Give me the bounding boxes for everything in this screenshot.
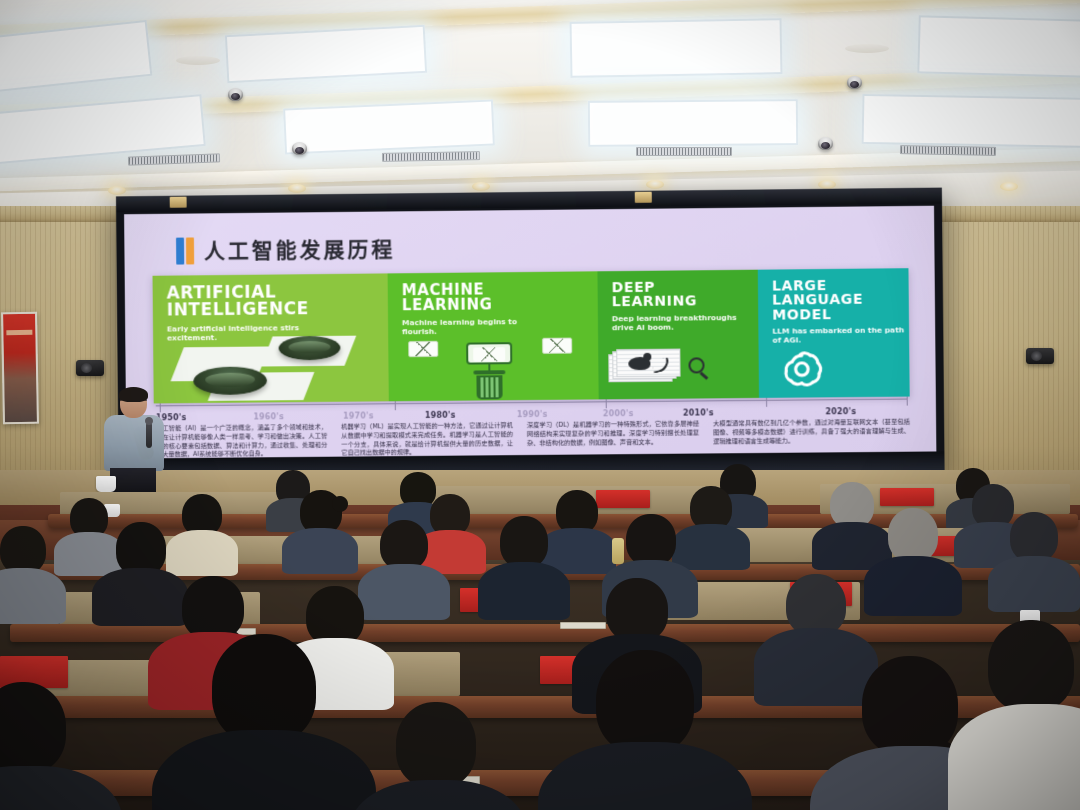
wall-poster [1, 312, 39, 425]
envelope-icon [542, 338, 572, 354]
torso [672, 524, 750, 570]
recessed-downlight [818, 180, 836, 189]
torso [0, 568, 66, 624]
drink-bottle [612, 538, 624, 564]
envelope-icon [408, 341, 438, 357]
led-display-screen[interactable]: 人工智能发展历程 ARTIFICIAL INTELLIGENCE Early a… [116, 188, 945, 478]
panel-deep-learning[interactable]: DEEP LEARNING Deep learning breakthrough… [597, 270, 759, 400]
torso [864, 556, 962, 616]
air-vent [128, 153, 220, 165]
ceiling-panel-light [570, 18, 783, 78]
timeline-year-1990s: 1990's [517, 410, 548, 419]
accent-bar-orange [186, 237, 194, 264]
torso [92, 568, 188, 626]
torso [538, 742, 752, 810]
panel-heading-line2: LEARNING [612, 294, 758, 310]
openai-logo-icon [779, 345, 826, 392]
timeline-tick [907, 397, 908, 406]
envelope-filter-box [466, 342, 512, 364]
smoke-detector [176, 56, 220, 65]
air-vent [382, 151, 480, 162]
presenter-torso [104, 415, 164, 471]
head [380, 520, 428, 570]
timeline-panel-strip: ARTIFICIAL INTELLIGENCE Early artificial… [153, 268, 910, 403]
torso [478, 562, 570, 620]
timeline-tick [766, 398, 767, 407]
ceiling-panel-light [862, 94, 1080, 148]
title-accent-bars [176, 237, 194, 264]
accent-bar-blue [176, 237, 184, 264]
panel-heading: LARGE LANGUAGE MODEL [772, 278, 909, 322]
panel-subtitle: LLM has embarked on the path of AGI. [772, 325, 909, 345]
timeline-year-2010s: 2010's [683, 408, 714, 417]
head [1010, 512, 1058, 562]
timeline-tick [395, 401, 396, 410]
recessed-downlight [288, 184, 306, 193]
head [500, 516, 548, 568]
panel-heading-line2: LEARNING [402, 297, 598, 314]
mouse-silhouette-icon [628, 357, 650, 370]
email-spam-filter-icon [404, 335, 584, 399]
timeline-year-1960s: 1960's [253, 412, 284, 421]
panel-large-language-model[interactable]: LARGE LANGUAGE MODEL LLM has embarked on… [758, 268, 910, 398]
screen-mount-bracket [635, 192, 652, 203]
wall-speaker-right [1026, 348, 1054, 364]
head [888, 508, 938, 562]
dome-camera-icon [228, 88, 243, 101]
description-column-ml: 机器学习（ML）是实现人工智能的一种方法，它通过让计算机从数据中学习和提取模式来… [341, 422, 513, 458]
microphone-icon [146, 422, 152, 448]
ceiling-panel-light [283, 99, 495, 154]
smoke-detector [845, 44, 889, 53]
audience-area [0, 470, 1080, 810]
panel-subtitle: Deep learning breakthroughs drive AI boo… [612, 312, 759, 332]
presentation-slide: 人工智能发展历程 ARTIFICIAL INTELLIGENCE Early a… [124, 206, 936, 459]
ceiling [0, 0, 1080, 196]
lecture-hall-scene: 人工智能发展历程 ARTIFICIAL INTELLIGENCE Early a… [0, 0, 1080, 810]
timeline-year-1980s: 1980's [425, 411, 456, 420]
panel-heading: DEEP LEARNING [612, 280, 759, 310]
head [212, 634, 316, 744]
panel-subtitle: Machine learning begins to flourish. [402, 316, 552, 336]
trash-lid [473, 370, 505, 374]
torso [988, 556, 1080, 612]
envelope-icon [473, 347, 505, 361]
presenter-hair [119, 387, 148, 402]
robot-vacuum-icon [171, 331, 376, 401]
recessed-downlight [1000, 182, 1018, 191]
hair-bun [332, 496, 348, 512]
recessed-downlight [108, 186, 126, 195]
torso [152, 730, 376, 810]
torso [948, 704, 1080, 810]
dome-camera-icon [847, 76, 862, 89]
screen-mount-bracket [170, 197, 187, 208]
slide-header: 人工智能发展历程 [176, 233, 395, 265]
head [786, 574, 846, 636]
panel-machine-learning[interactable]: MACHINE LEARNING Machine learning begins… [388, 271, 599, 401]
description-column-llm: 大模型通常具有数亿到几亿个参数，通过对海量互联网文本（甚至包括图像、视频等多模态… [713, 419, 910, 447]
torso [754, 628, 878, 706]
ceiling-panel-light [588, 99, 798, 147]
magnifier-icon [688, 357, 704, 373]
torso [166, 530, 238, 576]
torso [282, 528, 358, 574]
wall-speaker-left [76, 360, 104, 376]
head [396, 702, 476, 788]
screen-content-area: 人工智能发展历程 ARTIFICIAL INTELLIGENCE Early a… [124, 206, 936, 459]
head [606, 578, 668, 642]
dome-camera-icon [818, 137, 833, 150]
page-title: 人工智能发展历程 [204, 233, 396, 265]
bench-nameplate [560, 622, 606, 629]
trash-bin-icon [476, 375, 502, 399]
recessed-downlight [646, 180, 664, 189]
dome-camera-icon [292, 142, 307, 155]
recessed-downlight [472, 182, 490, 191]
ceiling-panel-light [917, 15, 1080, 78]
timeline-year-2000s: 2000's [603, 409, 634, 418]
panel-heading: MACHINE LEARNING [402, 281, 598, 314]
panel-heading: ARTIFICIAL INTELLIGENCE [167, 283, 388, 320]
panel-heading-line2: LANGUAGE [772, 293, 909, 309]
description-column-ai: 人工智能（AI）是一个广泛的概念，涵盖了多个领域和技术，旨在让计算机能够像人类一… [156, 424, 328, 459]
head [0, 526, 46, 574]
air-vent [636, 147, 732, 156]
name-placard [596, 490, 650, 508]
name-placard [880, 488, 934, 506]
torso [54, 532, 124, 576]
air-vent [900, 145, 996, 156]
timeline-tick [606, 399, 607, 408]
timeline-year-1970s: 1970's [343, 411, 374, 420]
mouse-card-magnifier-icon [608, 348, 749, 393]
panel-artificial-intelligence[interactable]: ARTIFICIAL INTELLIGENCE Early artificial… [153, 273, 389, 403]
head [626, 514, 676, 566]
head [596, 650, 694, 754]
description-column-dl: 深度学习（DL）是机器学习的一种特殊形式，它依靠多层神经网络结构来实现复杂的学习… [527, 420, 699, 448]
ceiling-panel-light [225, 25, 427, 83]
panel-heading-line2: INTELLIGENCE [167, 301, 388, 320]
panel-heading-line3: MODEL [772, 307, 909, 323]
timeline-year-2020s: 2020's [825, 407, 856, 416]
head [988, 620, 1074, 712]
head [306, 586, 364, 646]
torso [358, 564, 450, 620]
